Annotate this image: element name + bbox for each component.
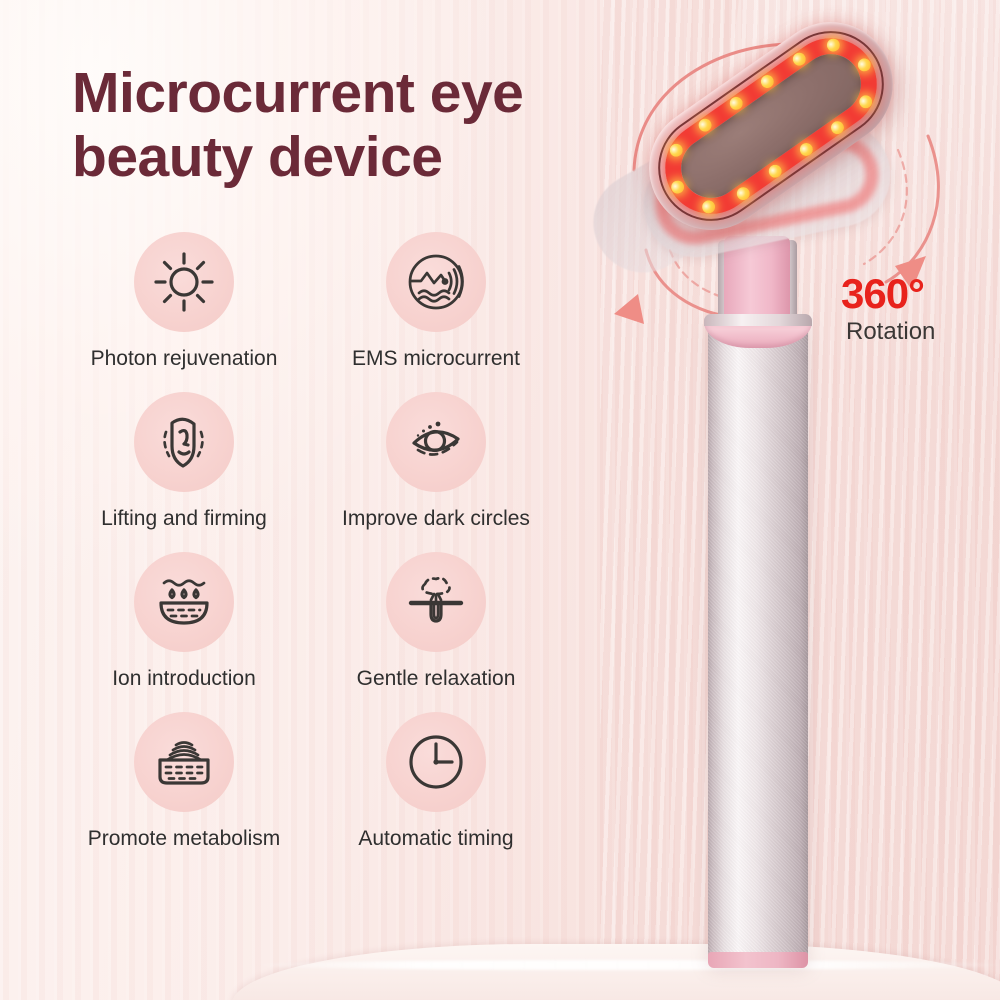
device-handle xyxy=(708,318,808,964)
feature-item-ems-microcurrent[interactable]: EMS microcurrent xyxy=(310,232,562,371)
product-device-image: 360° Rotation xyxy=(598,18,1000,998)
feature-item-lifting-and-firming[interactable]: Lifting and firming xyxy=(58,392,310,531)
skin-layers-wave-icon xyxy=(134,712,234,812)
feature-item-photon-rejuvenation[interactable]: Photon rejuvenation xyxy=(58,232,310,371)
feature-label: Photon rejuvenation xyxy=(91,347,278,371)
feature-row: Photon rejuvenation EMS microcurre xyxy=(58,232,578,371)
feature-label: EMS microcurrent xyxy=(352,347,520,371)
clock-icon xyxy=(386,712,486,812)
feature-list: Photon rejuvenation EMS microcurre xyxy=(58,232,578,872)
face-profile-icon xyxy=(134,392,234,492)
eye-icon xyxy=(386,392,486,492)
feature-item-automatic-timing[interactable]: Automatic timing xyxy=(310,712,562,851)
feature-item-gentle-relaxation[interactable]: Gentle relaxation xyxy=(310,552,562,691)
ems-wave-icon xyxy=(386,232,486,332)
device-base xyxy=(708,952,808,968)
feature-row: Promote metabolism Automatic timing xyxy=(58,712,578,851)
feature-item-ion-introduction[interactable]: Ion introduction xyxy=(58,552,310,691)
handle-texture xyxy=(708,318,808,964)
sun-icon xyxy=(134,232,234,332)
feature-label: Gentle relaxation xyxy=(357,667,516,691)
page-title: Microcurrent eye beauty device xyxy=(72,62,632,190)
feature-row: Lifting and firming Improve dark circles xyxy=(58,392,578,531)
feature-label: Promote metabolism xyxy=(88,827,281,851)
rotation-degree-label: Rotation xyxy=(846,318,935,346)
pore-follicle-icon xyxy=(386,552,486,652)
feature-label: Lifting and firming xyxy=(101,507,267,531)
feature-item-improve-dark-circles[interactable]: Improve dark circles xyxy=(310,392,562,531)
feature-label: Improve dark circles xyxy=(342,507,530,531)
product-marketing-banner: Microcurrent eye beauty device xyxy=(0,0,1000,1000)
water-droplet-bowl-icon xyxy=(134,552,234,652)
rotation-degree-value: 360° xyxy=(841,270,924,318)
feature-label: Automatic timing xyxy=(358,827,513,851)
feature-item-promote-metabolism[interactable]: Promote metabolism xyxy=(58,712,310,851)
device-head-assembly xyxy=(598,18,1000,338)
feature-row: Ion introduction Gentle relaxation xyxy=(58,552,578,691)
feature-label: Ion introduction xyxy=(112,667,256,691)
